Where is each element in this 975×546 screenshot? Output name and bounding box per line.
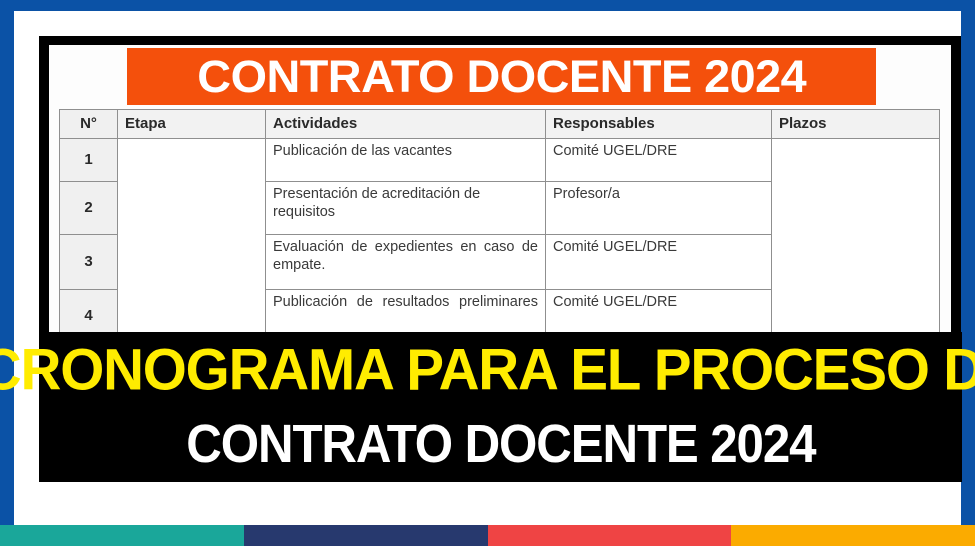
headline-line-2: CONTRATO DOCENTE 2024	[186, 418, 815, 472]
scanned-document: CONTRATO DOCENTE 2024 N° Etapa Actividad…	[39, 36, 961, 338]
page-frame: CONTRATO DOCENTE 2024 N° Etapa Actividad…	[0, 0, 975, 546]
cell-numero: 2	[60, 182, 118, 235]
cell-actividad: Publicación de resultados preliminares	[266, 290, 546, 338]
cell-actividad: Evaluación de expedientes en caso de emp…	[266, 235, 546, 290]
strip-segment-navy	[244, 525, 488, 546]
document-title-band: CONTRATO DOCENTE 2024	[127, 48, 876, 105]
cronograma-table: N° Etapa Actividades Responsables Plazos…	[59, 109, 940, 338]
headline-banner: CRONOGRAMA PARA EL PROCESO DE CONTRATO D…	[39, 332, 962, 482]
column-header-numero: N°	[60, 110, 118, 139]
cell-actividad: Presentación de acreditación de requisit…	[266, 182, 546, 235]
cell-actividad: Publicación de las vacantes	[266, 139, 546, 182]
headline-line-1: CRONOGRAMA PARA EL PROCESO DE	[0, 342, 975, 401]
cell-responsable: Comité UGEL/DRE	[546, 139, 772, 182]
column-header-actividades: Actividades	[266, 110, 546, 139]
table-header-row: N° Etapa Actividades Responsables Plazos	[60, 110, 940, 139]
cell-etapa-merged: Por resultados	[118, 139, 266, 338]
column-header-responsables: Responsables	[546, 110, 772, 139]
cell-numero: 1	[60, 139, 118, 182]
cell-responsable: Comité UGEL/DRE	[546, 235, 772, 290]
table-header: N° Etapa Actividades Responsables Plazos	[60, 110, 940, 139]
column-header-plazos: Plazos	[772, 110, 940, 139]
bottom-color-strip	[0, 525, 975, 546]
cell-numero: 4	[60, 290, 118, 338]
table-body: 1 Por resultados Publicación de las vaca…	[60, 139, 940, 338]
cell-responsable: Comité UGEL/DRE	[546, 290, 772, 338]
column-header-etapa: Etapa	[118, 110, 266, 139]
table-row: 1 Por resultados Publicación de las vaca…	[60, 139, 940, 182]
document-inner: CONTRATO DOCENTE 2024 N° Etapa Actividad…	[49, 45, 951, 338]
cell-responsable: Profesor/a	[546, 182, 772, 235]
document-title-text: CONTRATO DOCENTE 2024	[197, 54, 806, 99]
strip-segment-red	[488, 525, 732, 546]
strip-segment-teal	[0, 525, 244, 546]
strip-segment-orange	[731, 525, 975, 546]
cell-numero: 3	[60, 235, 118, 290]
cell-plazo-merged: Inicia la tercera semana de	[772, 139, 940, 338]
